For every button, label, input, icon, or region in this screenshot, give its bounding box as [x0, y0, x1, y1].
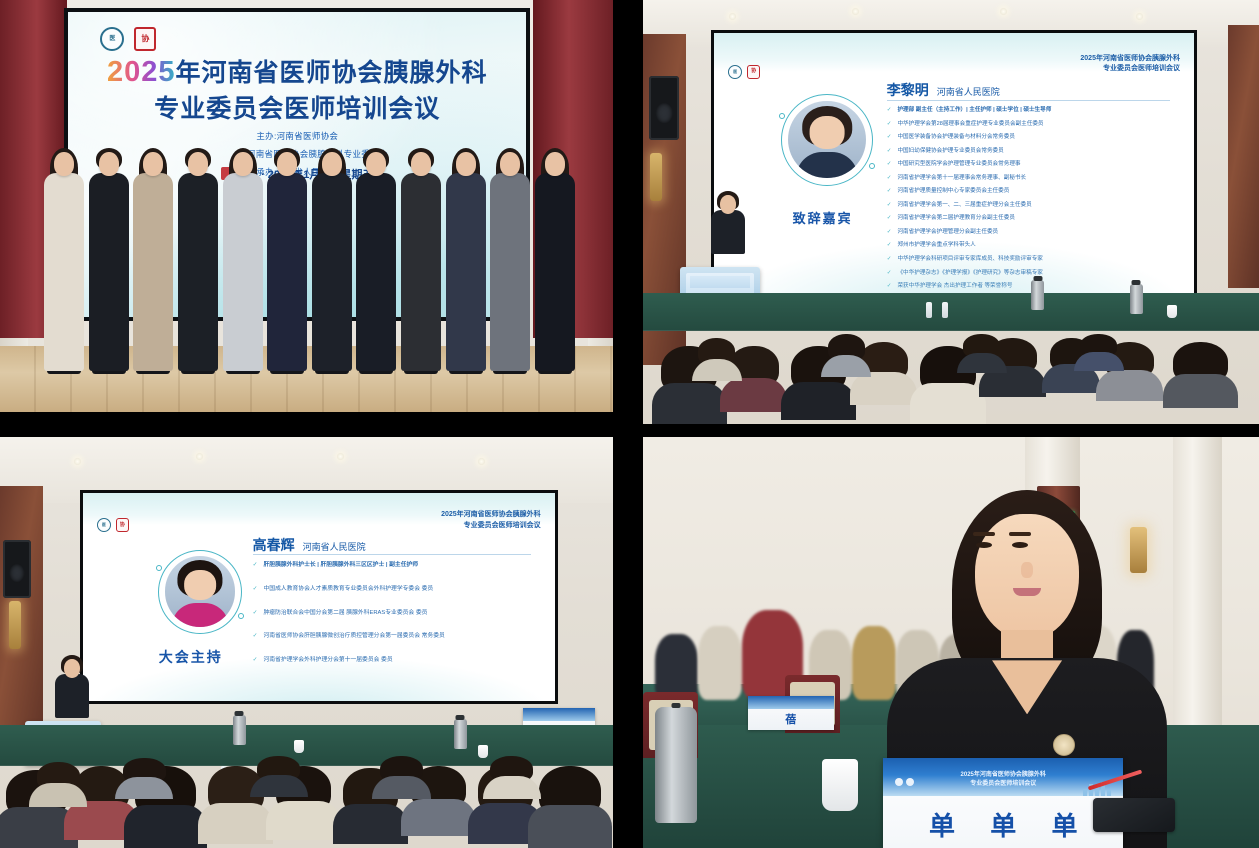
seated-delegate: [877, 490, 1177, 790]
pa-speaker-icon: [3, 540, 31, 598]
photo-collage: 医 协 2025年河南省医师协会胰腺外科 专业委员会医师培训会议 主办:河南省医…: [0, 0, 1259, 848]
person: [534, 152, 577, 370]
name-card-title-line-1: 2025年河南省医师协会胰腺外科: [883, 771, 1123, 780]
person: [132, 152, 175, 370]
screen-title-line-1: 2025年河南省医师协会胰腺外科: [96, 52, 499, 92]
person: [221, 152, 264, 370]
ceiling-light-icon: [1136, 13, 1143, 20]
association-seal-icon: 协: [747, 65, 760, 79]
slide-logo-row: 医 协: [728, 65, 760, 79]
person: [88, 152, 131, 370]
association-seal-icon: 协: [116, 518, 129, 532]
ring-dot-icon: [156, 565, 162, 571]
bio-item: ✓护理部 副主任（主持工作）| 主任护师 | 硕士学位 | 硕士生导师: [887, 107, 1175, 115]
screen-title-rest: 年河南省医师协会胰腺外科: [176, 59, 488, 87]
bio-item-text: 护理部 副主任（主持工作）| 主任护师 | 硕士学位 | 硕士生导师: [897, 107, 1051, 115]
slide-header-line-2: 专业委员会医师培训会议: [441, 521, 541, 532]
hospital-seal-icon: 医: [100, 27, 124, 51]
person: [355, 152, 398, 370]
hospital-seal-icon: 医: [728, 65, 742, 79]
slide-logo-row: 医 协: [97, 518, 129, 532]
bullet-check-icon: ✓: [253, 562, 258, 570]
bio-item: ✓河南省护理学会第一、二、三届重症护理分会主任委员: [887, 202, 1175, 210]
photo-top-right-keynote[interactable]: 医 协 2025年河南省医师协会胰腺外科 专业委员会医师培训会议 致辞嘉宾 李黎…: [643, 0, 1259, 424]
background-name-text: 蓓: [748, 711, 834, 727]
bullet-check-icon: ✓: [887, 188, 892, 196]
name-underline: [887, 100, 1171, 101]
speaker-portrait: [165, 556, 236, 627]
bio-item-text: 中华护理学会第28届理事会重症护理专业委员会副主任委员: [897, 121, 1043, 129]
speaker-name: 李黎明: [887, 80, 929, 100]
slide-header-line-2: 专业委员会医师培训会议: [1080, 64, 1180, 75]
speaker-name: 高春辉: [253, 535, 295, 555]
audience-rows: [643, 229, 1259, 424]
screen-logo-row: 医 协: [100, 27, 156, 51]
bio-item-text: 河南省护理学会第十一届理事会常务理事、副秘书长: [897, 175, 1026, 183]
person: [266, 152, 309, 370]
person: [43, 152, 86, 370]
speaker-hospital: 河南省人民医院: [937, 85, 1000, 98]
year-glyph: 2025: [107, 56, 176, 88]
bio-item-text: 中国研究型医院学会护理管理专业委员会常务理事: [897, 161, 1020, 169]
bullet-check-icon: ✓: [887, 107, 892, 115]
organizer-line: 主办:河南省医师协会: [68, 127, 526, 145]
audience-rows: [0, 643, 613, 848]
background-attendee: [698, 626, 741, 700]
speaker-portrait: [788, 101, 865, 178]
wall-sconce-icon: [650, 153, 662, 201]
bio-item: ✓肿瘤防治联合会中国分会第二届 胰腺外科ERAS专业委员会 委员: [253, 610, 536, 618]
bullet-check-icon: ✓: [887, 175, 892, 183]
bio-item-text: 河南省护理学会第一、二、三届重症护理分会主任委员: [897, 202, 1031, 210]
ring-dot-icon: [869, 163, 875, 169]
nose: [1021, 562, 1033, 578]
photo-bottom-right-delegate[interactable]: 2025年河南省医师协会胰腺外科 专业委员会医师培训会议 单 单 单 蓓: [643, 437, 1259, 848]
background-attendee: [655, 634, 698, 700]
speaker-name-row: 李黎明 河南省人民医院: [887, 80, 1000, 100]
bio-item: ✓中国医学装备协会护理装备与材料分会常务委员: [887, 134, 1175, 142]
name-underline: [253, 554, 532, 555]
bio-item-text: 肝胆胰腺外科护士长 | 肝胆胰腺外科三区区护士 | 副主任护师: [264, 562, 419, 570]
hospital-seal-icon: 医: [97, 518, 111, 532]
bio-item-text: 肿瘤防治联合会中国分会第二届 胰腺外科ERAS专业委员会 委员: [264, 610, 428, 618]
speaker-portrait-ring: [158, 550, 242, 634]
role-label: 致辞嘉宾: [743, 208, 903, 227]
slide-header-line-1: 2025年河南省医师协会胰腺外科: [441, 510, 541, 521]
bio-item: ✓肝胆胰腺外科护士长 | 肝胆胰腺外科三区区护士 | 副主任护师: [253, 562, 536, 570]
name-card-band: [748, 696, 834, 709]
eyebrow: [1009, 532, 1031, 536]
bullet-check-icon: ✓: [253, 586, 258, 594]
bio-item-text: 河南省医师协会肝胆胰腺微创治疗质控管理分会第一届委员会 常务委员: [264, 633, 445, 641]
photo-top-left-group-photo[interactable]: 医 协 2025年河南省医师协会胰腺外科 专业委员会医师培训会议 主办:河南省医…: [0, 0, 613, 412]
screen-title-block: 2025年河南省医师协会胰腺外科 专业委员会医师培训会议: [68, 52, 526, 127]
person: [489, 152, 532, 370]
bio-item: ✓中国研究型医院学会护理管理专业委员会常务理事: [887, 161, 1175, 169]
bullet-check-icon: ✓: [887, 134, 892, 142]
speaker-portrait-ring: [781, 94, 873, 186]
bio-item: ✓河南省护理质量控制中心专家委员会主任委员: [887, 188, 1175, 196]
ring-dot-icon: [238, 613, 244, 619]
slide-header-line-1: 2025年河南省医师协会胰腺外科: [1080, 54, 1180, 65]
ceiling-light-icon: [74, 458, 81, 465]
speaker-hospital: 河南省人民医院: [303, 540, 366, 553]
delegate-name-card: 2025年河南省医师协会胰腺外科 专业委员会医师培训会议 单 单 单: [883, 758, 1123, 848]
association-seal-icon: 协: [134, 27, 156, 51]
background-name-card: 蓓: [748, 696, 834, 730]
bullet-check-icon: ✓: [887, 202, 892, 210]
bullet-check-icon: ✓: [253, 610, 258, 618]
bio-item-text: 河南省护理学会第二届护理教育分会副主任委员: [897, 215, 1014, 223]
bio-item: ✓河南省护理学会第二届护理教育分会副主任委员: [887, 215, 1175, 223]
bio-item: ✓中华护理学会第28届理事会重症护理专业委员会副主任委员: [887, 121, 1175, 129]
person: [177, 152, 220, 370]
bio-item-text: 河南省护理质量控制中心专家委员会主任委员: [897, 188, 1009, 196]
mouth: [1013, 588, 1041, 596]
person: [444, 152, 487, 370]
person: [311, 152, 354, 370]
bio-item: ✓河南省护理学会第十一届理事会常务理事、副秘书长: [887, 175, 1175, 183]
bio-item: ✓河南省医师协会肝胆胰腺微创治疗质控管理分会第一届委员会 常务委员: [253, 633, 536, 641]
pa-speaker-icon: [649, 76, 679, 140]
bullet-check-icon: ✓: [887, 121, 892, 129]
ceiling-light-icon: [729, 13, 736, 20]
bullet-check-icon: ✓: [887, 161, 892, 169]
bullet-check-icon: ✓: [887, 148, 892, 156]
slide-header-title: 2025年河南省医师协会胰腺外科 专业委员会医师培训会议: [441, 510, 541, 531]
smartphone-icon: [1093, 798, 1175, 832]
bio-item-text: 中国成人教育协会人才素质教育专业委员会外科护理学专委会 委员: [264, 586, 434, 594]
person: [400, 152, 443, 370]
ring-dot-icon: [779, 113, 785, 119]
tea-cup-icon: [822, 759, 858, 811]
bullet-check-icon: ✓: [253, 633, 258, 641]
bio-item-text: 中国妇幼保健协会护理专业委员会常务委员: [897, 148, 1003, 156]
speaker-name-row: 高春辉 河南省人民医院: [253, 535, 366, 555]
delegate-name-text: 单 单 单: [883, 806, 1123, 843]
screen-title-line-2: 专业委员会医师培训会议: [96, 92, 499, 127]
bio-item: ✓中国成人教育协会人才素质教育专业委员会外科护理学专委会 委员: [253, 586, 536, 594]
eyebrow: [973, 532, 995, 536]
ceiling-light-icon: [478, 458, 485, 465]
bullet-check-icon: ✓: [887, 215, 892, 223]
slide-header-title: 2025年河南省医师协会胰腺外科 专业委员会医师培训会议: [1080, 54, 1180, 75]
thermos-icon: [655, 707, 697, 823]
bio-item: ✓中国妇幼保健协会护理专业委员会常务委员: [887, 148, 1175, 156]
photo-bottom-left-moderator[interactable]: 医 协 2025年河南省医师协会胰腺外科 专业委员会医师培训会议 大会主持 高春…: [0, 437, 613, 848]
bio-item-text: 中国医学装备协会护理装备与材料分会常务委员: [897, 134, 1014, 142]
group-photo-people: [43, 152, 576, 370]
